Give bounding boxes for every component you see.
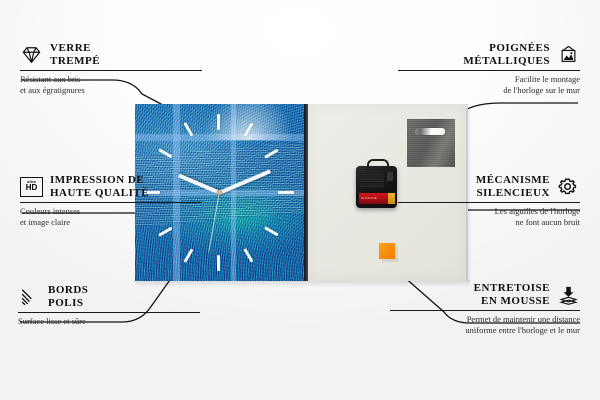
gear-icon [557, 177, 580, 197]
callout-mecanisme-silencieux: MÉCANISME SILENCIEUX Les aiguilles de l'… [398, 174, 580, 227]
callout-title-line1: IMPRESSION DE [50, 174, 149, 187]
callout-bords-polis: BORDS POLIS Surface lisse et sûre [18, 284, 200, 327]
callout-subtitle-line1: Facilite le montage [398, 74, 580, 85]
mechanism-grill [360, 171, 384, 187]
callout-rule [20, 70, 202, 71]
callout-subtitle-line2: ne font aucun bruit [398, 217, 580, 228]
hanging-frame-icon [557, 45, 580, 65]
callout-subtitle-line2: uniforme entre l'horloge et le mur [390, 325, 580, 336]
battery-label: ALKALINE [361, 196, 377, 200]
clock-center-pin [217, 190, 222, 195]
callout-title-line1: ENTRETOISE [474, 282, 550, 295]
mechanism-chip [387, 172, 393, 181]
callout-title-line1: MÉCANISME [476, 174, 550, 187]
callout-rule [398, 202, 580, 203]
clock-tick [217, 255, 220, 271]
clock-tick [217, 114, 220, 130]
callout-title-line2: MÉTALLIQUES [463, 55, 550, 68]
callout-subtitle-line1: Surface lisse et sûre [18, 316, 200, 327]
callout-impression-haute-qualite: ultra HD IMPRESSION DE HAUTE QUALITÉ Cou… [20, 174, 202, 227]
mechanism-hanging-loop [367, 159, 389, 171]
clock-mechanism-box: ALKALINE [356, 166, 397, 208]
callout-subtitle-line1: Couleurs intenses [20, 206, 202, 217]
callout-entretoise-en-mousse: ENTRETOISE EN MOUSSE Permet de maintenir… [390, 282, 580, 335]
callout-title-line2: POLIS [48, 297, 88, 310]
hanger-keyhole-slot [415, 128, 445, 135]
callout-poignees-metalliques: POIGNÉES MÉTALLIQUES Facilite le montage… [398, 42, 580, 95]
callout-subtitle-line1: Résistant aux bris [20, 74, 202, 85]
callout-title-line2: EN MOUSSE [474, 295, 550, 308]
press-down-foam-icon [557, 285, 580, 305]
battery-positive-terminal [388, 193, 395, 204]
metal-hanger-plate [407, 119, 455, 167]
callout-title-line1: BORDS [48, 284, 88, 297]
callout-title-line2: SILENCIEUX [476, 187, 550, 200]
ultra-hd-icon: ultra HD [20, 177, 43, 197]
callout-title-line2: TREMPÉ [50, 55, 100, 68]
clock-tick [278, 191, 294, 194]
infographic-canvas: ALKALINE VERRE TREMPÉ Résistant aux bris [0, 0, 600, 400]
callout-subtitle-line1: Les aiguilles de l'horloge [398, 206, 580, 217]
callout-verre-trempe: VERRE TREMPÉ Résistant aux bris et aux é… [20, 42, 202, 95]
callout-subtitle-line2: et aux égratignures [20, 85, 202, 96]
polished-edges-icon [18, 287, 41, 307]
callout-rule [20, 202, 202, 203]
callout-rule [390, 310, 580, 311]
diamond-icon [20, 45, 43, 65]
foam-spacer [379, 243, 395, 259]
callout-title-line1: VERRE [50, 42, 100, 55]
callout-title-line1: POIGNÉES [463, 42, 550, 55]
callout-subtitle-line2: et image claire [20, 217, 202, 228]
callout-title-line2: HAUTE QUALITÉ [50, 187, 149, 200]
callout-subtitle-line1: Permet de maintenir une distance [390, 314, 580, 325]
callout-rule [398, 70, 580, 71]
ultra-hd-icon-large-text: HD [26, 184, 38, 192]
callout-rule [18, 312, 200, 313]
callout-subtitle-line2: de l'horloge sur le mur [398, 85, 580, 96]
